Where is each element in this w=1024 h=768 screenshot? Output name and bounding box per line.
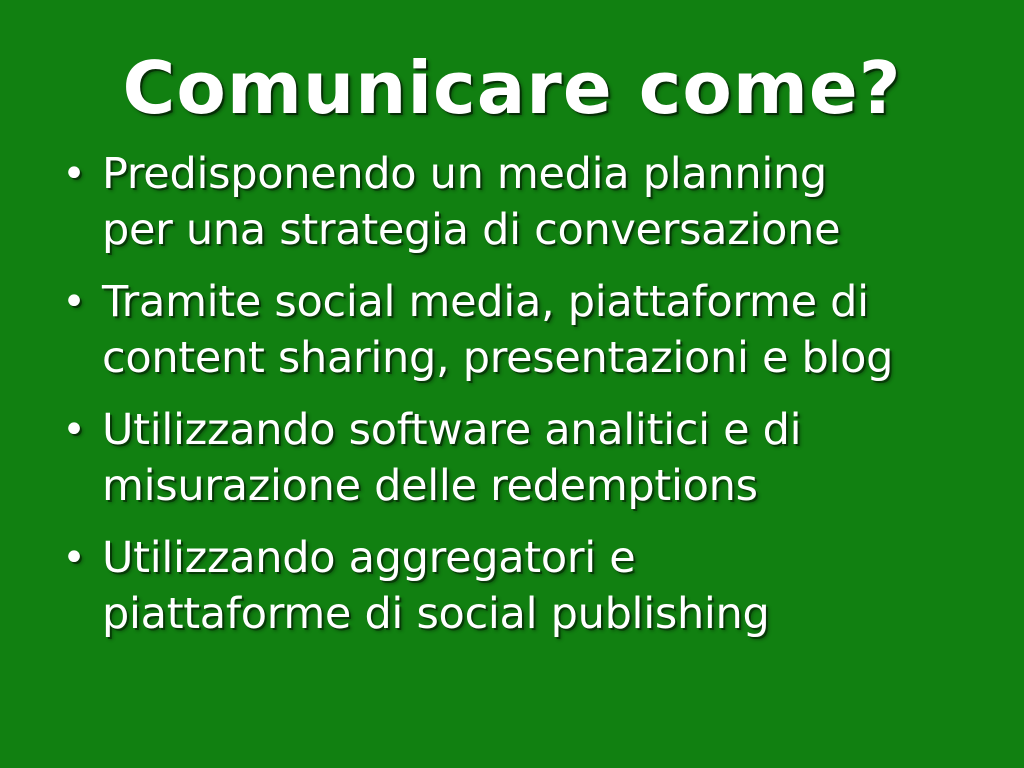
list-item-text: Utilizzando software analitici e di misu… bbox=[102, 402, 801, 514]
list-item-text: Utilizzando aggregatori e piattaforme di… bbox=[102, 530, 770, 642]
slide-canvas: Comunicare come? • Predisponendo un medi… bbox=[0, 0, 1024, 768]
bullet-point-icon: • bbox=[46, 146, 102, 202]
list-item-text: Tramite social media, piattaforme di con… bbox=[102, 274, 893, 386]
list-item: • Predisponendo un media planning per un… bbox=[46, 146, 984, 258]
bullet-list: • Predisponendo un media planning per un… bbox=[0, 124, 1024, 642]
bullet-point-icon: • bbox=[46, 530, 102, 586]
list-item: • Utilizzando software analitici e di mi… bbox=[46, 402, 984, 514]
list-item: • Utilizzando aggregatori e piattaforme … bbox=[46, 530, 984, 642]
bullet-point-icon: • bbox=[46, 274, 102, 330]
list-item-text: Predisponendo un media planning per una … bbox=[102, 146, 840, 258]
page-title: Comunicare come? bbox=[0, 0, 1024, 124]
list-item: • Tramite social media, piattaforme di c… bbox=[46, 274, 984, 386]
bullet-point-icon: • bbox=[46, 402, 102, 458]
